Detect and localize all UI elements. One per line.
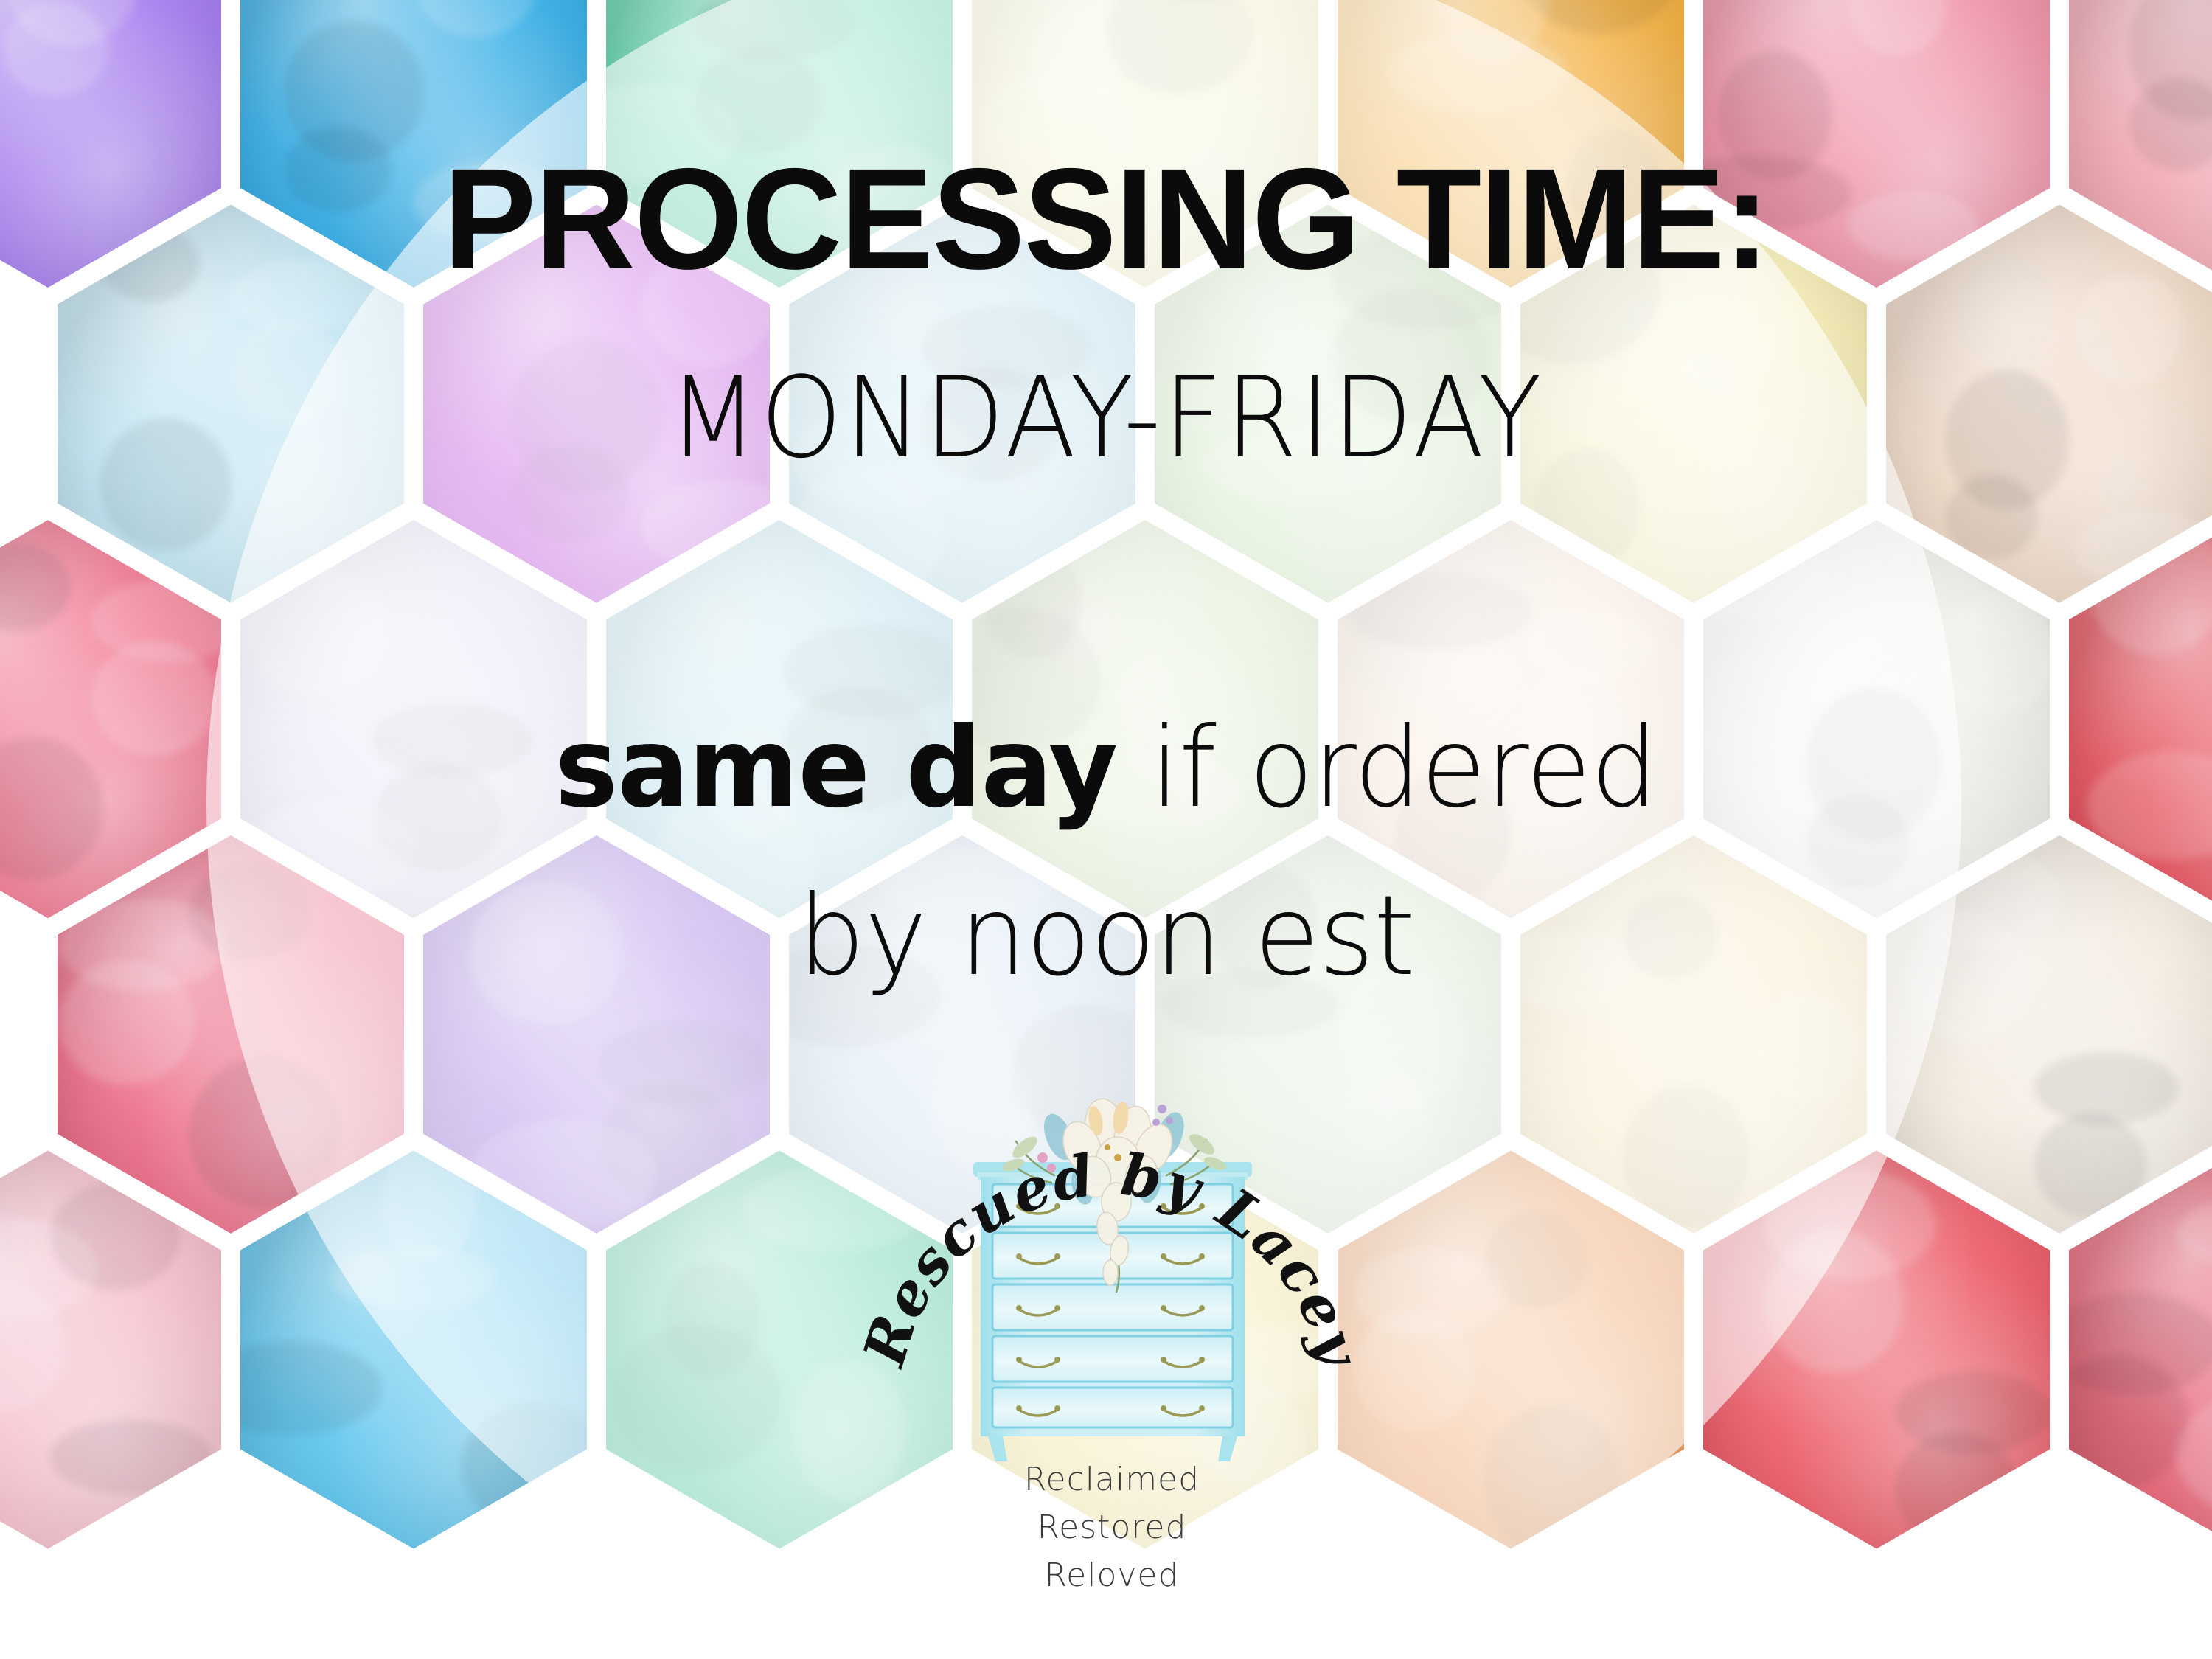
tagline-line-2: Restored [861, 1509, 1363, 1546]
poster-canvas: PROCESSING TIME: MONDAY-FRIDAY same day … [0, 0, 2212, 1659]
tagline-line-1: Reclaimed [861, 1461, 1363, 1498]
logo-illustration: Rescued by Lacey [861, 1018, 1363, 1489]
brand-logo: Rescued by Lacey Reclaimed Restored Relo… [861, 1018, 1363, 1622]
tagline-line-3: Reloved [861, 1557, 1363, 1594]
